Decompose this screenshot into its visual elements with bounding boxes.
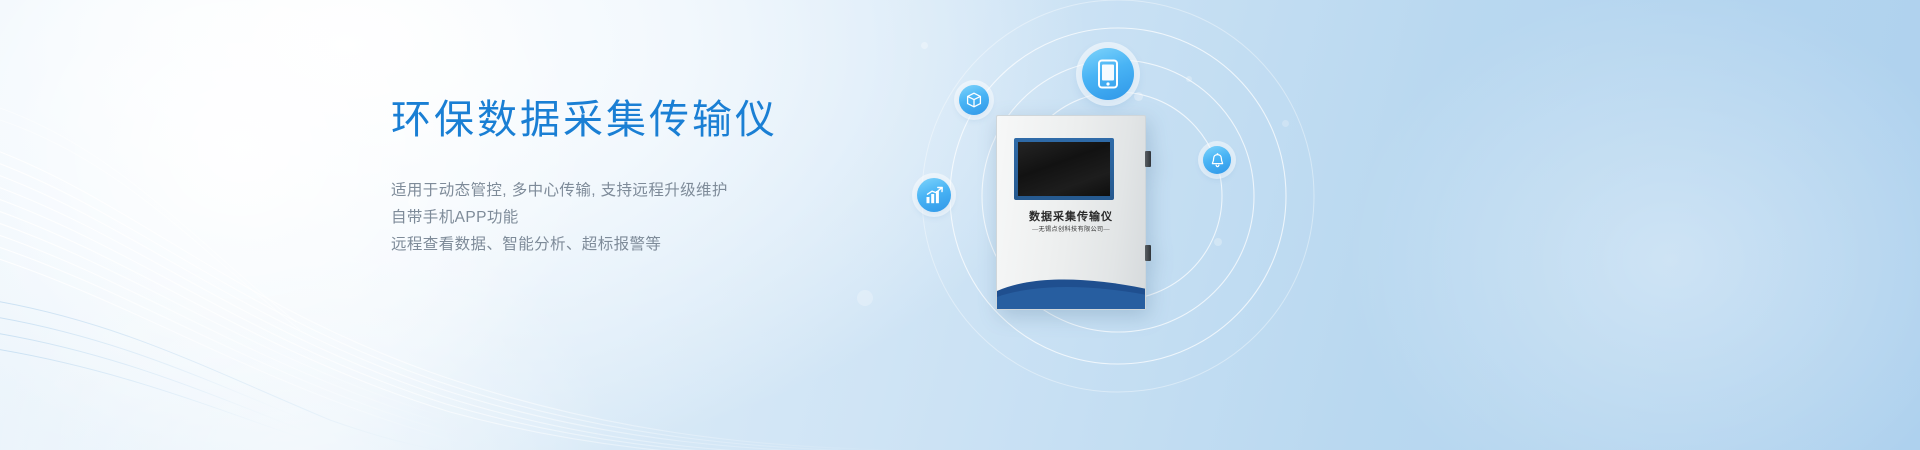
bar-chart-growth-icon[interactable] bbox=[917, 178, 951, 212]
hero-text-block: 环保数据采集传输仪 适用于动态管控, 多中心传输, 支持远程升级维护 自带手机A… bbox=[391, 95, 1031, 258]
decorative-dot bbox=[1282, 120, 1289, 127]
device-enclosure: 数据采集传输仪 —无锡点创科技有限公司— bbox=[996, 115, 1146, 310]
background-glow-right bbox=[1220, 0, 1920, 450]
decorative-dot bbox=[857, 290, 873, 306]
device-side-connector bbox=[1145, 151, 1151, 167]
device-company-label: —无锡点创科技有限公司— bbox=[997, 224, 1145, 233]
device-screen bbox=[1018, 142, 1110, 196]
device-screen-bezel bbox=[1014, 138, 1114, 200]
package-box-icon[interactable] bbox=[959, 85, 989, 115]
decorative-dot bbox=[1134, 92, 1143, 101]
device-brand-label: 数据采集传输仪 bbox=[997, 208, 1145, 224]
decorative-dot bbox=[1214, 238, 1222, 246]
device-side-connector bbox=[1145, 245, 1151, 261]
subtitle-line-3: 远程查看数据、智能分析、超标报警等 bbox=[391, 231, 1031, 258]
alarm-bell-icon[interactable] bbox=[1203, 146, 1231, 174]
decorative-dot bbox=[1186, 76, 1192, 82]
decorative-dot bbox=[921, 42, 928, 49]
mobile-phone-icon[interactable] bbox=[1082, 48, 1134, 100]
product-device-image: 数据采集传输仪 —无锡点创科技有限公司— bbox=[996, 115, 1146, 310]
device-bottom-band bbox=[997, 273, 1145, 309]
product-hero-banner: 环保数据采集传输仪 适用于动态管控, 多中心传输, 支持远程升级维护 自带手机A… bbox=[0, 0, 1920, 450]
page-title: 环保数据采集传输仪 bbox=[391, 95, 1031, 145]
